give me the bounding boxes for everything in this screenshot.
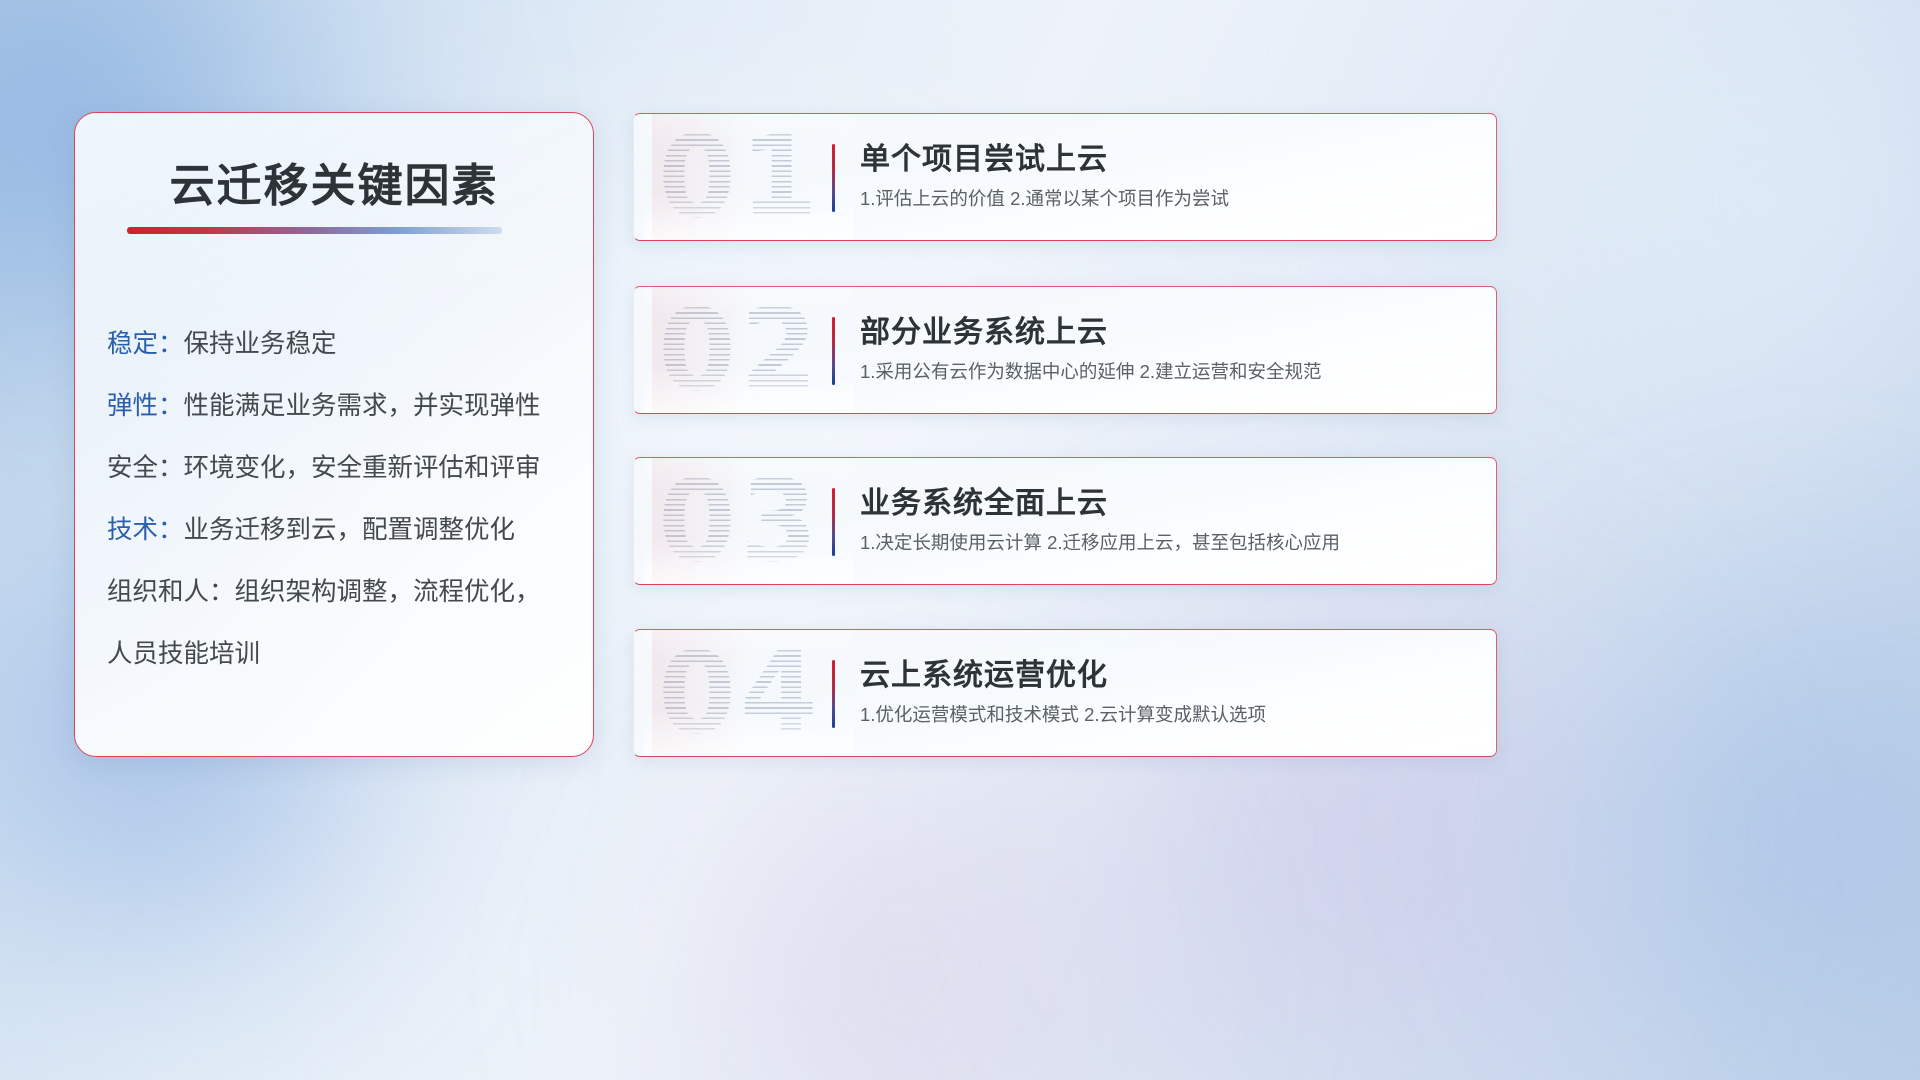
stage-number-watermark: 02 — [658, 286, 822, 414]
stage-description: 1.决定长期使用云计算 2.迁移应用上云，甚至包括核心应用 — [860, 526, 1476, 560]
key-factor-label: 组织和人： — [107, 578, 235, 606]
key-factors-list: 稳定：保持业务稳定弹性：性能满足业务需求，并实现弹性安全：环境变化，安全重新评估… — [107, 313, 569, 685]
key-factors-panel: 云迁移关键因素 稳定：保持业务稳定弹性：性能满足业务需求，并实现弹性安全：环境变… — [74, 112, 594, 757]
title-underline-accent — [127, 227, 502, 234]
key-factor-text: 人员技能培训 — [107, 640, 260, 668]
stage-card[interactable]: 01 单个项目尝试上云 1.评估上云的价值 2.通常以某个项目作为尝试 — [633, 113, 1497, 241]
card-body: 部分业务系统上云 1.采用公有云作为数据中心的延伸 2.建立运营和安全规范 — [860, 311, 1476, 389]
key-factor-text: 业务迁移到云，配置调整优化 — [184, 516, 516, 544]
stage-number-watermark: 03 — [658, 457, 822, 585]
stage-title: 单个项目尝试上云 — [860, 138, 1476, 182]
key-factor-label: 稳定： — [107, 330, 184, 358]
stage-card[interactable]: 04 云上系统运营优化 1.优化运营模式和技术模式 2.云计算变成默认选项 — [633, 629, 1497, 757]
stage-card[interactable]: 03 业务系统全面上云 1.决定长期使用云计算 2.迁移应用上云，甚至包括核心应… — [633, 457, 1497, 585]
stage-title: 业务系统全面上云 — [860, 482, 1476, 526]
card-accent-bar — [832, 144, 835, 212]
key-factor-row: 技术：业务迁移到云，配置调整优化 — [107, 499, 569, 561]
key-factor-row: 安全：环境变化，安全重新评估和评审 — [107, 437, 569, 499]
key-factor-row: 稳定：保持业务稳定 — [107, 313, 569, 375]
card-body: 单个项目尝试上云 1.评估上云的价值 2.通常以某个项目作为尝试 — [860, 138, 1476, 216]
stage-description: 1.优化运营模式和技术模式 2.云计算变成默认选项 — [860, 698, 1476, 732]
key-factor-row: 人员技能培训 — [107, 623, 569, 685]
stage-description: 1.评估上云的价值 2.通常以某个项目作为尝试 — [860, 182, 1476, 216]
key-factor-row: 弹性：性能满足业务需求，并实现弹性 — [107, 375, 569, 437]
card-body: 业务系统全面上云 1.决定长期使用云计算 2.迁移应用上云，甚至包括核心应用 — [860, 482, 1476, 560]
key-factor-text: 保持业务稳定 — [184, 330, 337, 358]
stage-card[interactable]: 02 部分业务系统上云 1.采用公有云作为数据中心的延伸 2.建立运营和安全规范 — [633, 286, 1497, 414]
slide-content: 云迁移关键因素 稳定：保持业务稳定弹性：性能满足业务需求，并实现弹性安全：环境变… — [0, 0, 1920, 1080]
card-body: 云上系统运营优化 1.优化运营模式和技术模式 2.云计算变成默认选项 — [860, 654, 1476, 732]
stage-number-watermark: 01 — [658, 113, 822, 241]
key-factor-label: 弹性： — [107, 392, 184, 420]
key-factor-label: 安全： — [107, 454, 184, 482]
card-accent-bar — [832, 488, 835, 556]
key-factor-text: 性能满足业务需求，并实现弹性 — [184, 392, 541, 420]
key-factor-text: 环境变化，安全重新评估和评审 — [184, 454, 541, 482]
stage-title: 部分业务系统上云 — [860, 311, 1476, 355]
page-title: 云迁移关键因素 — [75, 149, 593, 214]
key-factor-row: 组织和人：组织架构调整，流程优化， — [107, 561, 569, 623]
key-factor-label: 技术： — [107, 516, 184, 544]
stage-description: 1.采用公有云作为数据中心的延伸 2.建立运营和安全规范 — [860, 355, 1476, 389]
card-accent-bar — [832, 660, 835, 728]
stage-title: 云上系统运营优化 — [860, 654, 1476, 698]
key-factor-text: 组织架构调整，流程优化， — [235, 578, 541, 606]
stage-number-watermark: 04 — [658, 629, 822, 757]
card-accent-bar — [832, 317, 835, 385]
